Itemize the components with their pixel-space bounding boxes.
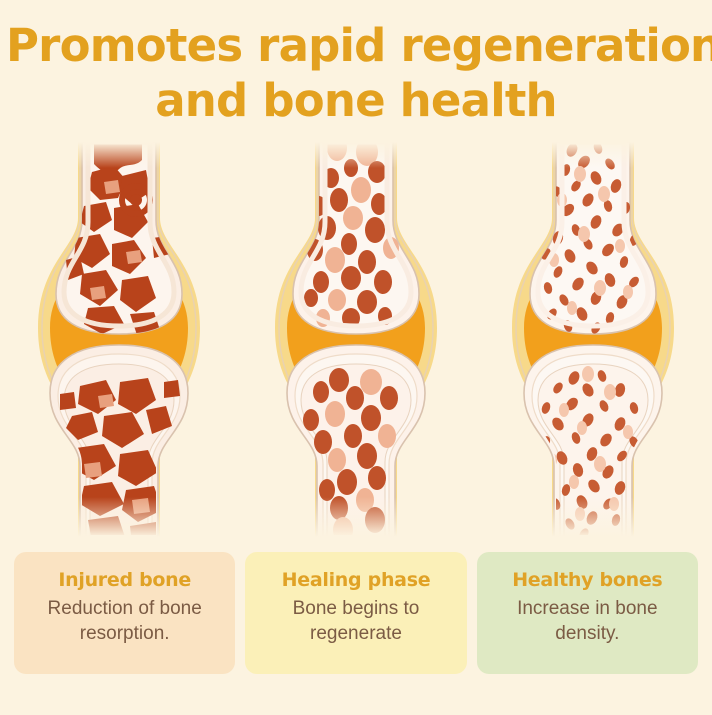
page-title-line-1: Promotes rapid regeneration xyxy=(6,18,706,73)
caption-card-healing-phase: Healing phase Bone begins to regenerate xyxy=(245,552,466,674)
injured-bone-illustration xyxy=(14,142,224,537)
caption-card-healthy-bones: Healthy bones Increase in bone density. xyxy=(477,552,698,674)
caption-card-text: Bone begins to regenerate xyxy=(255,596,456,646)
caption-card-title: Injured bone xyxy=(24,568,225,592)
caption-card-text: Reduction of bone resorption. xyxy=(24,596,225,646)
page-title: Promotes rapid regeneration and bone hea… xyxy=(0,18,712,128)
caption-card-text: Increase in bone density. xyxy=(487,596,688,646)
caption-card-title: Healthy bones xyxy=(487,568,688,592)
infographic-poster: Promotes rapid regeneration and bone hea… xyxy=(0,0,712,715)
caption-card-injured-bone: Injured bone Reduction of bone resorptio… xyxy=(14,552,235,674)
healing-bone-illustration xyxy=(251,142,461,537)
caption-card-title: Healing phase xyxy=(255,568,456,592)
bone-illustration-row xyxy=(0,142,712,542)
caption-card-row: Injured bone Reduction of bone resorptio… xyxy=(14,552,698,674)
page-title-line-2: and bone health xyxy=(6,73,706,128)
healthy-bone-illustration xyxy=(488,142,698,537)
